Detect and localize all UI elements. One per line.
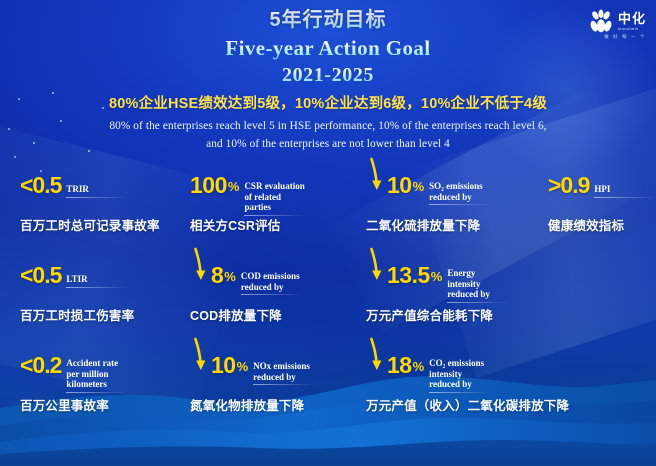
metric-label-cn: 万元产值（收入）二氧化碳排放下降 xyxy=(366,395,569,414)
metric-value-row: <0.5LTIR xyxy=(20,262,128,289)
metric-label-en: HPI xyxy=(594,184,654,198)
metrics-row: <0.2Accident rate per million kilometers… xyxy=(0,352,656,442)
metric-value-row: 13.5%Energy intensity reduced by xyxy=(366,262,509,303)
metric-value: 18 xyxy=(387,352,412,379)
page-title-en: Five-year Action Goal xyxy=(0,35,656,62)
metric-label-cn: 相关方CSR评估 xyxy=(190,215,281,234)
metric-label-cn: COD排放量下降 xyxy=(190,305,282,324)
down-arrow-icon xyxy=(366,336,386,376)
metric-value: 8 xyxy=(211,262,223,289)
metric-value-row: 10%SO₂ emissions reduced by xyxy=(366,172,491,205)
down-arrow-icon xyxy=(190,246,210,286)
metric-value: 10 xyxy=(387,172,412,199)
metric-value-row: 8%COD emissions reduced by xyxy=(190,262,303,295)
metric-label-en: COD emissions reduced by xyxy=(241,271,303,295)
metric-label-cn: 二氧化硫排放量下降 xyxy=(366,215,480,234)
metric-value: <0.2 xyxy=(20,352,61,379)
metric-value: >0.9 xyxy=(548,172,589,199)
metric-label-en: SO₂ emissions reduced by xyxy=(429,181,491,205)
metric-unit: % xyxy=(237,352,249,382)
subtitle-en: 80% of the enterprises reach level 5 in … xyxy=(40,118,616,153)
metric-unit: % xyxy=(413,172,425,202)
metric-label-en: CO₂ emissions intensity reduced by xyxy=(429,358,491,393)
down-arrow-icon xyxy=(190,336,210,376)
metric-label-en: Accident rate per million kilometers xyxy=(66,358,128,393)
metric-value-row: <0.5TRIR xyxy=(20,172,128,199)
metric-label-cn: 氮氧化物排放量下降 xyxy=(190,395,304,414)
metric-value-row: 100%CSR evaluation of related parties xyxy=(190,172,306,216)
down-arrow-icon xyxy=(366,156,386,196)
metric-value-row: >0.9HPI xyxy=(548,172,654,199)
page-period: 2021-2025 xyxy=(0,62,656,88)
metrics-row: <0.5TRIR百万工时总可记录事故率100%CSR evaluation of… xyxy=(0,172,656,262)
page-title-cn: 5年行动目标 xyxy=(0,8,656,33)
metric-label-en: Energy intensity reduced by xyxy=(447,268,509,303)
down-arrow-icon xyxy=(366,246,386,286)
metric-unit: % xyxy=(431,262,443,292)
metric-label-en: TRIR xyxy=(66,184,128,198)
metric-value-row: <0.2Accident rate per million kilometers xyxy=(20,352,128,393)
metric-value: 100 xyxy=(190,172,227,199)
metric-label-en: LTIR xyxy=(66,274,128,288)
metric-label-en: CSR evaluation of related parties xyxy=(244,181,306,216)
slide-canvas: 中化 sinochem 做 好 每 一 个 5年行动目标 Five-year A… xyxy=(0,0,656,466)
metric-value-row: 10%NOx emissions reduced by xyxy=(190,352,315,385)
metric-label-en: NOx emissions reduced by xyxy=(253,361,315,385)
metric-label-cn: 百万工时损工伤害率 xyxy=(20,305,134,324)
metrics-grid: <0.5TRIR百万工时总可记录事故率100%CSR evaluation of… xyxy=(0,172,656,442)
subtitle-en-line2: and 10% of the enterprises are not lower… xyxy=(40,136,616,154)
metric-unit: % xyxy=(228,172,240,202)
metric-unit: % xyxy=(224,262,236,292)
metric-value: 10 xyxy=(211,352,236,379)
metric-value: 13.5 xyxy=(387,262,430,289)
metric-value: <0.5 xyxy=(20,262,61,289)
metric-label-cn: 万元产值综合能耗下降 xyxy=(366,305,493,324)
metrics-row: <0.5LTIR百万工时损工伤害率8%COD emissions reduced… xyxy=(0,262,656,352)
metric-unit: % xyxy=(413,352,425,382)
metric-label-cn: 健康绩效指标 xyxy=(548,215,624,234)
metric-value-row: 18%CO₂ emissions intensity reduced by xyxy=(366,352,491,393)
header-block: 5年行动目标 Five-year Action Goal 2021-2025 xyxy=(0,8,656,88)
subtitle-cn: 80%企业HSE绩效达到5级，10%企业达到6级，10%企业不低于4级 xyxy=(0,92,656,113)
metric-value: <0.5 xyxy=(20,172,61,199)
metric-label-cn: 百万公里事故率 xyxy=(20,395,109,414)
metric-label-cn: 百万工时总可记录事故率 xyxy=(20,215,160,234)
subtitle-en-line1: 80% of the enterprises reach level 5 in … xyxy=(40,118,616,136)
